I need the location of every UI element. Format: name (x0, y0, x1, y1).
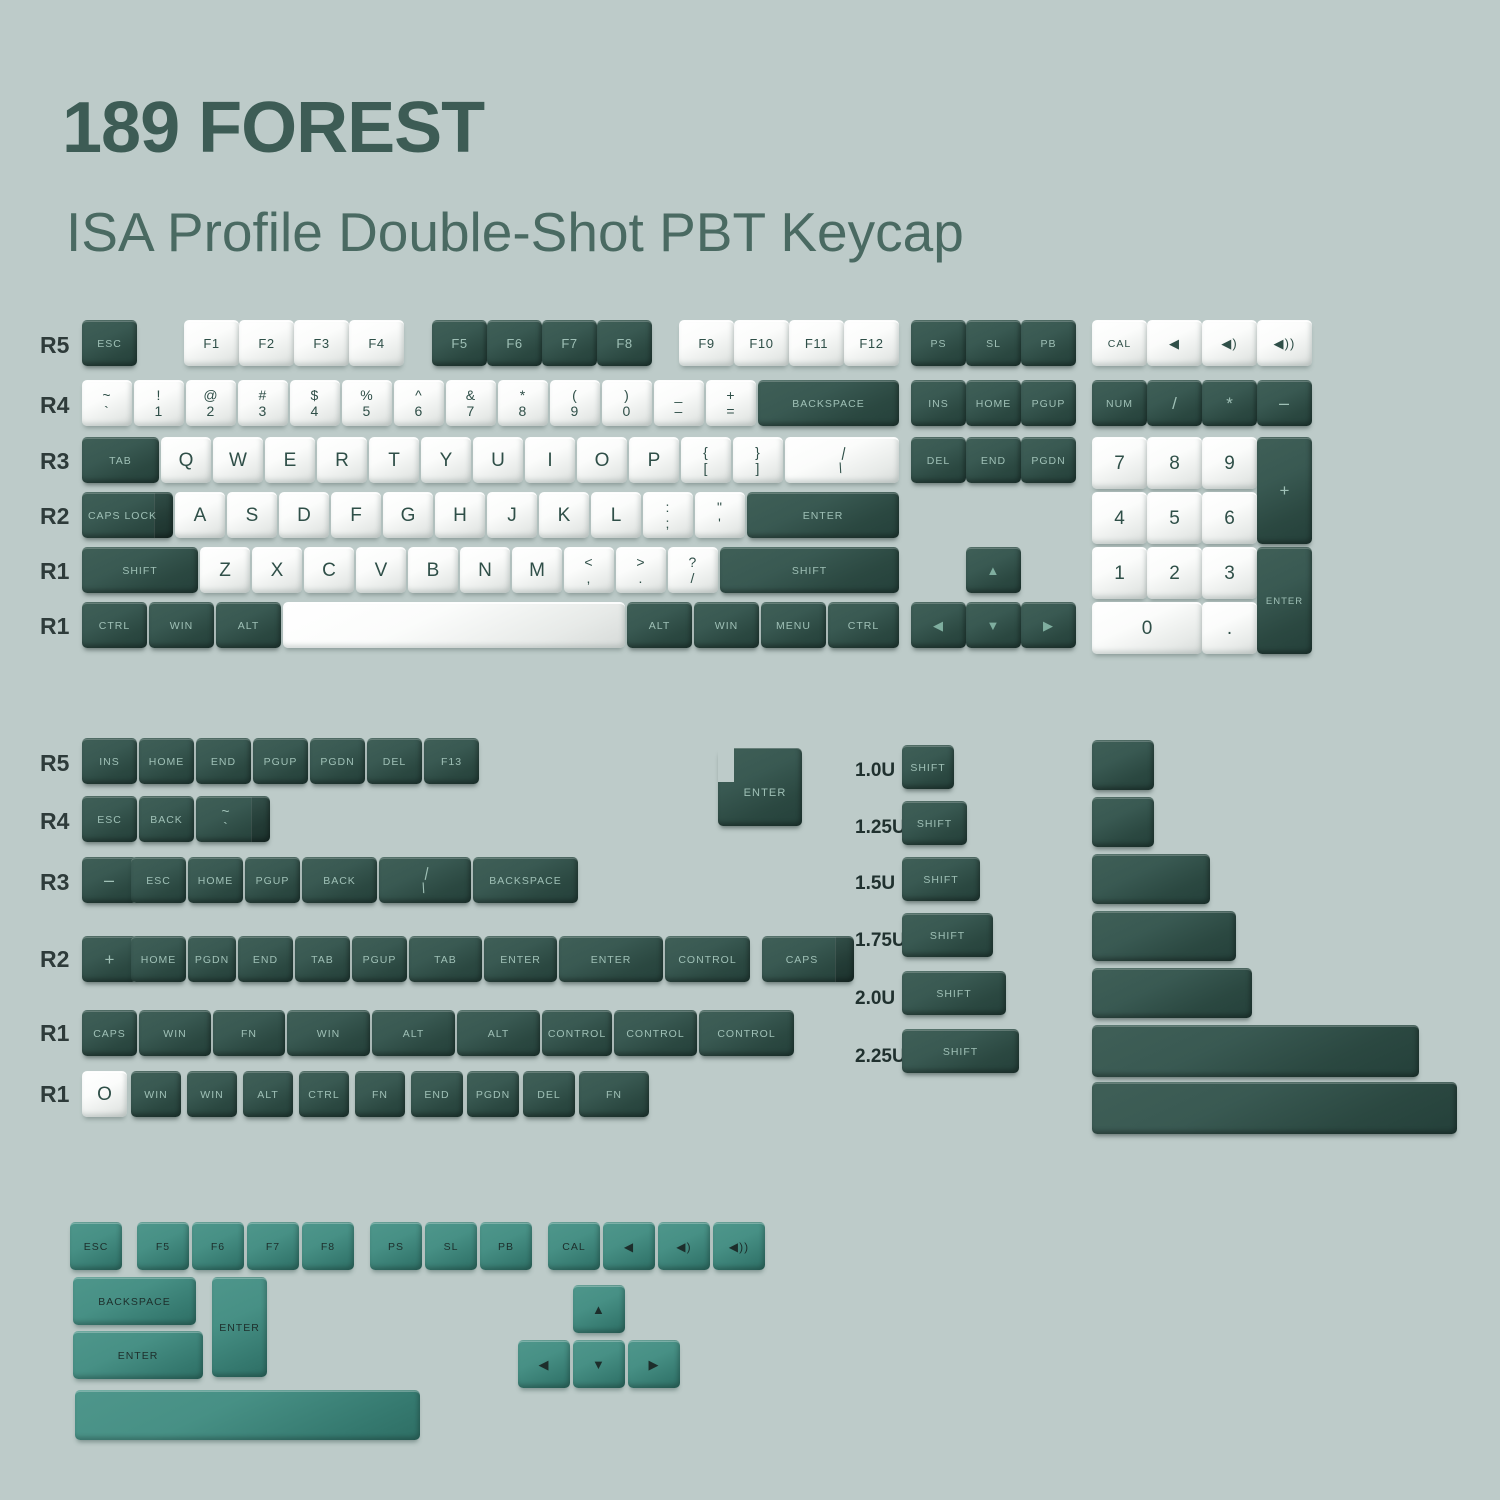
extra-key-enter[interactable]: ENTER (484, 936, 557, 982)
key-page-up[interactable]: PGUP (1021, 380, 1076, 426)
teal-mute-icon[interactable]: ◀ (603, 1222, 655, 1270)
extra-key-backspace[interactable]: BACKSPACE (473, 857, 578, 903)
key-f4[interactable]: F4 (349, 320, 404, 366)
row-label-r4: R4 (40, 392, 69, 419)
extras-row-label-r1b: R1 (40, 1081, 69, 1108)
key-z[interactable]: Z (200, 547, 250, 593)
row-label-r3: R3 (40, 448, 69, 475)
teal-left-arrow-icon[interactable]: ◀ (518, 1340, 570, 1388)
key-f6[interactable]: F6 (487, 320, 542, 366)
key-j[interactable]: J (487, 492, 537, 538)
key-1[interactable]: !1 (134, 380, 184, 426)
teal-key-spacebar[interactable] (75, 1390, 420, 1440)
extra-key-pgup-2[interactable]: PGUP (245, 857, 300, 903)
key-numpad-1[interactable]: 1 (1092, 547, 1147, 599)
volume-up-icon[interactable]: ◀)) (1257, 320, 1312, 366)
blank-key-275u[interactable] (1092, 968, 1252, 1018)
extra-key-win-2[interactable]: WIN (287, 1010, 370, 1056)
key-delete[interactable]: DEL (911, 437, 966, 483)
extra-key-end-2[interactable]: END (238, 936, 293, 982)
teal-key-f6[interactable]: F6 (192, 1222, 244, 1270)
key-7[interactable]: &7 (446, 380, 496, 426)
key-numpad-divide[interactable]: / (1147, 380, 1202, 426)
key-page-down[interactable]: PGDN (1021, 437, 1076, 483)
key-enter[interactable]: ENTER (747, 492, 899, 538)
mute-icon[interactable]: ◀ (1147, 320, 1202, 366)
blank-key-625u[interactable] (1092, 1025, 1419, 1077)
teal-key-esc[interactable]: ESC (70, 1222, 122, 1270)
key-left-ctrl[interactable]: CTRL (82, 602, 147, 648)
key-f12[interactable]: F12 (844, 320, 899, 366)
teal-key-ps[interactable]: PS (370, 1222, 422, 1270)
key-right-ctrl[interactable]: CTRL (828, 602, 899, 648)
key-n[interactable]: N (460, 547, 510, 593)
key-backslash[interactable]: |\ (785, 437, 899, 483)
size-key-shift-125u[interactable]: SHIFT (902, 801, 967, 845)
blank-key-7u[interactable] (1092, 1082, 1457, 1134)
size-key-shift-175u[interactable]: SHIFT (902, 913, 993, 957)
key-3[interactable]: #3 (238, 380, 288, 426)
key-g[interactable]: G (383, 492, 433, 538)
extra-key-alt[interactable]: ALT (372, 1010, 455, 1056)
key-numpad-7[interactable]: 7 (1092, 437, 1147, 489)
key-9[interactable]: (9 (550, 380, 600, 426)
extra-key-control-2[interactable]: CONTROL (542, 1010, 612, 1056)
blank-key-2u[interactable] (1092, 854, 1210, 904)
key-numpad-6[interactable]: 6 (1202, 492, 1257, 544)
key-insert[interactable]: INS (911, 380, 966, 426)
key-numlock[interactable]: NUM (1092, 380, 1147, 426)
down-arrow-icon[interactable]: ▼ (966, 602, 1021, 648)
key-numpad-8[interactable]: 8 (1147, 437, 1202, 489)
key-5[interactable]: %5 (342, 380, 392, 426)
teal-volume-down-icon[interactable]: ◀) (658, 1222, 710, 1270)
key-pause-break[interactable]: PB (1021, 320, 1076, 366)
blank-key-225u[interactable] (1092, 911, 1236, 961)
key-2[interactable]: @2 (186, 380, 236, 426)
key-numpad-9[interactable]: 9 (1202, 437, 1257, 489)
key-b[interactable]: B (408, 547, 458, 593)
teal-volume-up-icon[interactable]: ◀)) (713, 1222, 765, 1270)
key-f11[interactable]: F11 (789, 320, 844, 366)
key-i[interactable]: I (525, 437, 575, 483)
extra-key-del[interactable]: DEL (367, 738, 422, 784)
extra-key-fn-2[interactable]: FN (355, 1071, 405, 1117)
key-numpad-5[interactable]: 5 (1147, 492, 1202, 544)
extra-key-back[interactable]: BACK (139, 796, 194, 842)
key-c[interactable]: C (304, 547, 354, 593)
key-backspace[interactable]: BACKSPACE (758, 380, 899, 426)
teal-down-arrow-icon[interactable]: ▼ (573, 1340, 625, 1388)
key-m[interactable]: M (512, 547, 562, 593)
extra-key-pgup[interactable]: PGUP (253, 738, 308, 784)
key-f5[interactable]: F5 (432, 320, 487, 366)
key-end[interactable]: END (966, 437, 1021, 483)
row-label-r5: R5 (40, 332, 69, 359)
teal-up-arrow-icon[interactable]: ▲ (573, 1285, 625, 1333)
size-label-1u: 1.0U (855, 760, 895, 782)
key-scroll-lock[interactable]: SL (966, 320, 1021, 366)
key-grave[interactable]: ~` (82, 380, 132, 426)
key-right-bracket[interactable]: }] (733, 437, 783, 483)
extra-key-pgdn[interactable]: PGDN (310, 738, 365, 784)
extra-key-tab-2[interactable]: TAB (409, 936, 482, 982)
key-o[interactable]: O (577, 437, 627, 483)
key-menu[interactable]: MENU (761, 602, 826, 648)
key-numpad-4[interactable]: 4 (1092, 492, 1147, 544)
key-a[interactable]: A (175, 492, 225, 538)
extra-key-caps-2[interactable]: CAPS (82, 1010, 137, 1056)
key-x[interactable]: X (252, 547, 302, 593)
up-arrow-icon[interactable]: ▲ (966, 547, 1021, 593)
extra-key-ins[interactable]: INS (82, 738, 137, 784)
extra-key-ctrl[interactable]: CTRL (299, 1071, 349, 1117)
key-6[interactable]: ^6 (394, 380, 444, 426)
teal-right-arrow-icon[interactable]: ▶ (628, 1340, 680, 1388)
key-f9[interactable]: F9 (679, 320, 734, 366)
extra-key-plus[interactable]: + (82, 936, 137, 982)
extra-key-caps[interactable]: CAPS (762, 936, 854, 982)
page-subtitle: ISA Profile Double-Shot PBT Keycap (66, 205, 964, 260)
extra-key-minus[interactable]: – (82, 857, 137, 903)
key-h[interactable]: H (435, 492, 485, 538)
extra-key-grave[interactable]: ~` (196, 796, 270, 842)
key-calculator[interactable]: CAL (1092, 320, 1147, 366)
key-r[interactable]: R (317, 437, 367, 483)
extra-key-esc[interactable]: ESC (82, 796, 137, 842)
extra-key-o[interactable]: O (82, 1071, 127, 1117)
extra-key-home[interactable]: HOME (139, 738, 194, 784)
extra-key-alt-3[interactable]: ALT (243, 1071, 293, 1117)
size-label-15u: 1.5U (855, 873, 895, 895)
key-u[interactable]: U (473, 437, 523, 483)
key-numpad-plus[interactable]: + (1257, 437, 1312, 544)
extras-row-label-r5: R5 (40, 750, 69, 777)
size-key-shift-1u[interactable]: SHIFT (902, 745, 954, 789)
key-k[interactable]: K (539, 492, 589, 538)
key-p[interactable]: P (629, 437, 679, 483)
key-numpad-multiply[interactable]: * (1202, 380, 1257, 426)
key-e[interactable]: E (265, 437, 315, 483)
key-spacebar[interactable] (283, 602, 625, 648)
size-label-225u: 2.25U (855, 1046, 906, 1068)
teal-key-enter-vertical[interactable]: ENTER (212, 1277, 267, 1377)
key-q[interactable]: Q (161, 437, 211, 483)
extra-key-win[interactable]: WIN (139, 1010, 211, 1056)
key-d[interactable]: D (279, 492, 329, 538)
size-key-shift-15u[interactable]: SHIFT (902, 857, 980, 901)
key-right-shift[interactable]: SHIFT (720, 547, 899, 593)
key-esc[interactable]: ESC (82, 320, 137, 366)
row-label-r2: R2 (40, 503, 69, 530)
blank-key-125u[interactable] (1092, 797, 1154, 847)
extra-key-control-4[interactable]: CONTROL (699, 1010, 794, 1056)
key-v[interactable]: V (356, 547, 406, 593)
size-label-2u: 2.0U (855, 988, 895, 1010)
key-numpad-0[interactable]: 0 (1092, 602, 1202, 654)
volume-down-icon[interactable]: ◀) (1202, 320, 1257, 366)
key-f1[interactable]: F1 (184, 320, 239, 366)
key-right-win[interactable]: WIN (694, 602, 759, 648)
size-label-125u: 1.25U (855, 817, 906, 839)
extra-key-enter-2[interactable]: ENTER (559, 936, 663, 982)
teal-key-f7[interactable]: F7 (247, 1222, 299, 1270)
extra-key-end-3[interactable]: END (411, 1071, 463, 1117)
key-0[interactable]: )0 (602, 380, 652, 426)
key-l[interactable]: L (591, 492, 641, 538)
key-caps-lock[interactable]: CAPS LOCK (82, 492, 173, 538)
extra-key-fn-3[interactable]: FN (579, 1071, 649, 1117)
extra-key-home-2[interactable]: HOME (188, 857, 243, 903)
key-print-screen[interactable]: PS (911, 320, 966, 366)
key-w[interactable]: W (213, 437, 263, 483)
key-f3[interactable]: F3 (294, 320, 349, 366)
key-numpad-2[interactable]: 2 (1147, 547, 1202, 599)
extra-key-pgdn-2[interactable]: PGDN (188, 936, 236, 982)
key-left-bracket[interactable]: {[ (681, 437, 731, 483)
key-s[interactable]: S (227, 492, 277, 538)
extras-row-label-r3: R3 (40, 869, 69, 896)
key-home[interactable]: HOME (966, 380, 1021, 426)
size-key-shift-225u[interactable]: SHIFT (902, 1029, 1019, 1073)
teal-key-f8[interactable]: F8 (302, 1222, 354, 1270)
right-arrow-icon[interactable]: ▶ (1021, 602, 1076, 648)
key-4[interactable]: $4 (290, 380, 340, 426)
key-numpad-3[interactable]: 3 (1202, 547, 1257, 599)
key-period[interactable]: >. (616, 547, 666, 593)
row-label-r1b: R1 (40, 613, 69, 640)
key-left-shift[interactable]: SHIFT (82, 547, 198, 593)
size-label-175u: 1.75U (855, 930, 906, 952)
extras-row-label-r1a: R1 (40, 1020, 69, 1047)
extra-key-back-2[interactable]: BACK (302, 857, 377, 903)
extra-key-pgup-3[interactable]: PGUP (352, 936, 407, 982)
extra-key-control[interactable]: CONTROL (665, 936, 750, 982)
row-label-r1a: R1 (40, 558, 69, 585)
key-slash[interactable]: ?/ (668, 547, 718, 593)
extra-key-fn[interactable]: FN (213, 1010, 285, 1056)
key-f[interactable]: F (331, 492, 381, 538)
blank-key-1u[interactable] (1092, 740, 1154, 790)
left-arrow-icon[interactable]: ◀ (911, 602, 966, 648)
key-numpad-decimal[interactable]: . (1202, 602, 1257, 654)
key-left-alt[interactable]: ALT (216, 602, 281, 648)
extra-key-win-4[interactable]: WIN (187, 1071, 237, 1117)
key-tab[interactable]: TAB (82, 437, 159, 483)
extra-key-del-2[interactable]: DEL (523, 1071, 575, 1117)
key-right-alt[interactable]: ALT (627, 602, 692, 648)
key-left-win[interactable]: WIN (149, 602, 214, 648)
teal-key-backspace[interactable]: BACKSPACE (73, 1277, 196, 1325)
teal-key-f5[interactable]: F5 (137, 1222, 189, 1270)
extra-key-win-3[interactable]: WIN (131, 1071, 181, 1117)
teal-key-sl[interactable]: SL (425, 1222, 477, 1270)
extras-row-label-r2: R2 (40, 946, 69, 973)
teal-key-cal[interactable]: CAL (548, 1222, 600, 1270)
key-equals[interactable]: += (706, 380, 756, 426)
key-f10[interactable]: F10 (734, 320, 789, 366)
teal-key-pb[interactable]: PB (480, 1222, 532, 1270)
extra-key-alt-2[interactable]: ALT (457, 1010, 540, 1056)
extra-key-control-3[interactable]: CONTROL (614, 1010, 697, 1056)
teal-key-enter[interactable]: ENTER (73, 1331, 203, 1379)
key-numpad-enter[interactable]: ENTER (1257, 547, 1312, 654)
extra-key-iso-enter[interactable]: ENTER (718, 748, 802, 826)
extra-key-f13[interactable]: F13 (424, 738, 479, 784)
key-t[interactable]: T (369, 437, 419, 483)
key-minus[interactable]: _– (654, 380, 704, 426)
page-title: 189 FOREST (62, 92, 484, 164)
key-quote[interactable]: "' (695, 492, 745, 538)
key-semicolon[interactable]: :; (643, 492, 693, 538)
extra-key-pgdn-3[interactable]: PGDN (467, 1071, 519, 1117)
key-f2[interactable]: F2 (239, 320, 294, 366)
extra-key-tab[interactable]: TAB (295, 936, 350, 982)
key-numpad-minus[interactable]: – (1257, 380, 1312, 426)
extras-row-label-r4: R4 (40, 808, 69, 835)
key-comma[interactable]: <, (564, 547, 614, 593)
key-f7[interactable]: F7 (542, 320, 597, 366)
size-key-shift-2u[interactable]: SHIFT (902, 971, 1006, 1015)
extra-key-home-3[interactable]: HOME (131, 936, 186, 982)
extra-key-backslash[interactable]: |\ (379, 857, 471, 903)
extra-key-esc-2[interactable]: ESC (131, 857, 186, 903)
key-f8[interactable]: F8 (597, 320, 652, 366)
extra-key-end[interactable]: END (196, 738, 251, 784)
key-y[interactable]: Y (421, 437, 471, 483)
key-8[interactable]: *8 (498, 380, 548, 426)
